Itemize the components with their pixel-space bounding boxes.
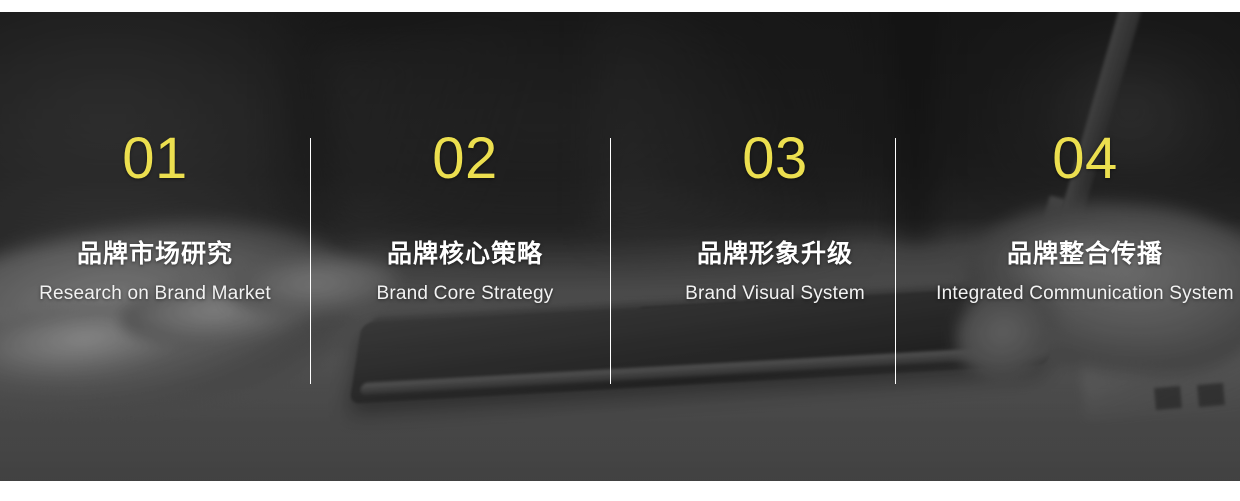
- step-title-en: Brand Visual System: [685, 283, 865, 305]
- step-title-cn: 品牌市场研究: [77, 234, 233, 270]
- step-title-en: Brand Core Strategy: [377, 283, 554, 305]
- step-number: 02: [432, 130, 498, 188]
- process-step-2: 02 品牌核心策略 Brand Core Strategy: [310, 0, 620, 501]
- step-title-cn: 品牌核心策略: [387, 234, 543, 270]
- step-title-en: Integrated Communication System: [936, 283, 1234, 305]
- step-title-cn: 品牌形象升级: [697, 234, 853, 270]
- step-divider-3: [895, 138, 896, 384]
- step-number: 01: [122, 130, 188, 188]
- process-step-1: 01 品牌市场研究 Research on Brand Market: [0, 0, 310, 501]
- process-step-3: 03 品牌形象升级 Brand Visual System: [620, 0, 930, 501]
- step-divider-1: [310, 138, 311, 384]
- step-number: 03: [742, 130, 808, 188]
- brand-process-banner: 01 品牌市场研究 Research on Brand Market 02 品牌…: [0, 0, 1240, 501]
- step-title-cn: 品牌整合传播: [1007, 234, 1163, 270]
- step-number: 04: [1052, 130, 1118, 188]
- step-title-en: Research on Brand Market: [39, 283, 271, 305]
- step-divider-2: [610, 138, 611, 384]
- process-steps: 01 品牌市场研究 Research on Brand Market 02 品牌…: [0, 0, 1240, 501]
- process-step-4: 04 品牌整合传播 Integrated Communication Syste…: [930, 0, 1240, 501]
